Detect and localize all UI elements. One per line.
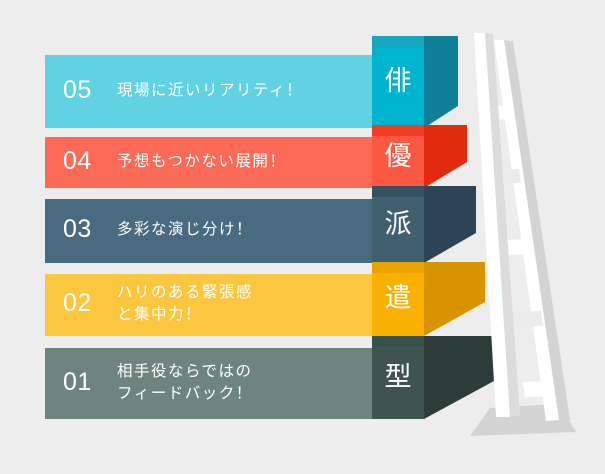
step-number-03: 03 — [63, 215, 92, 244]
ladder-rail-right — [494, 40, 559, 421]
ladder-rung-2 — [514, 311, 543, 327]
step-label-04: 予想もつかない展開！ — [117, 151, 286, 173]
kanji-glyph-02: 遣 — [372, 285, 424, 312]
kanji-block-side-face — [424, 125, 467, 188]
kanji-block-side-face — [424, 36, 458, 128]
step-bar-03[interactable]: 03多彩な演じ分け！ — [45, 199, 372, 263]
ladder-rung-4 — [496, 169, 521, 184]
kanji-block-top-bevel — [372, 336, 424, 347]
ladder-rung-3 — [505, 239, 532, 255]
step-bar-05[interactable]: 05現場に近いリアリティ！ — [45, 55, 372, 128]
step-label-02: ハリのある緊張感 と集中力！ — [117, 282, 253, 326]
step-label-01: 相手役ならではの フィードバック！ — [117, 361, 253, 405]
step-label-03: 多彩な演じ分け！ — [117, 219, 253, 241]
step-label-05: 現場に近いリアリティ！ — [117, 80, 303, 102]
step-bar-01[interactable]: 01相手役ならではの フィードバック！ — [45, 348, 372, 419]
ladder-rail-right-shade — [502, 40, 570, 421]
ladder-rung-5 — [488, 105, 511, 120]
kanji-block-top-bevel — [372, 186, 424, 197]
kanji-glyph-05: 俳 — [372, 68, 424, 95]
step-number-05: 05 — [63, 76, 92, 105]
kanji-block-side-face — [424, 336, 494, 419]
ladder-rungs — [488, 105, 554, 397]
step-bar-02[interactable]: 02ハリのある緊張感 と集中力！ — [45, 274, 372, 336]
kanji-glyph-04: 優 — [372, 143, 424, 170]
kanji-block-top-bevel — [372, 262, 424, 273]
kanji-block-side-face — [424, 186, 476, 263]
ladder-rung-1 — [523, 381, 554, 397]
kanji-block-side-face — [424, 262, 485, 336]
step-number-04: 04 — [63, 147, 92, 176]
kanji-glyph-01: 型 — [372, 364, 424, 391]
step-number-02: 02 — [63, 289, 92, 318]
kanji-block-top-bevel — [372, 36, 424, 47]
kanji-glyph-03: 派 — [372, 211, 424, 238]
infographic-canvas: 俳優派遣型 05現場に近いリアリティ！04予想もつかない展開！03多彩な演じ分け… — [0, 0, 605, 474]
ladder-shadow — [470, 404, 576, 436]
kanji-block-top-bevel — [372, 125, 424, 136]
step-number-01: 01 — [63, 368, 92, 397]
step-bar-04[interactable]: 04予想もつかない展開！ — [45, 137, 372, 188]
